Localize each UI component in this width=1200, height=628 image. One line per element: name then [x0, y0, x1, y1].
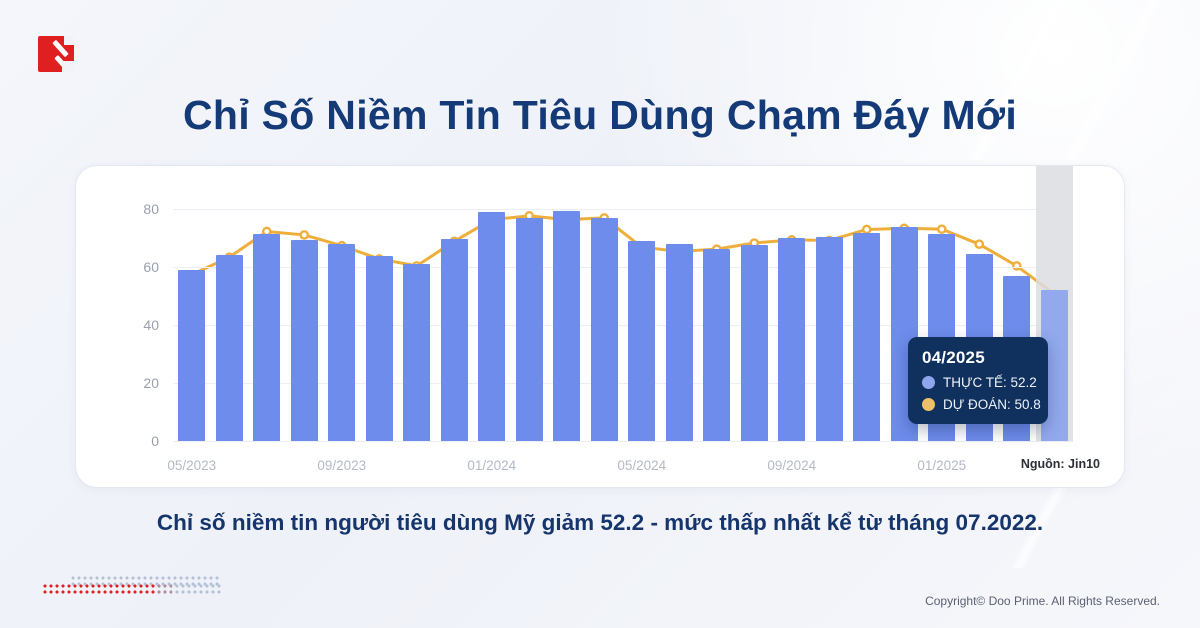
gridline — [173, 441, 1073, 442]
chart-card: 02040608005/202309/202301/202405/202409/… — [75, 165, 1125, 488]
bar[interactable] — [403, 264, 430, 441]
bar[interactable] — [441, 239, 468, 441]
chart-tooltip: 04/2025 THỰC TẾ: 52.2 DỰ ĐOÁN: 50.8 — [908, 337, 1048, 424]
copyright-text: Copyright© Doo Prime. All Rights Reserve… — [925, 594, 1160, 608]
y-axis-tick-label: 60 — [143, 259, 159, 275]
forecast-point-marker[interactable] — [938, 226, 945, 233]
bar[interactable] — [516, 218, 543, 441]
bar[interactable] — [741, 245, 768, 442]
caption-text: Chỉ số niềm tin người tiêu dùng Mỹ giảm … — [0, 510, 1200, 536]
bar[interactable] — [216, 255, 243, 441]
bar[interactable] — [591, 218, 618, 441]
forecast-point-marker[interactable] — [863, 226, 870, 233]
forecast-point-marker[interactable] — [1013, 262, 1020, 269]
y-axis-tick-label: 0 — [151, 433, 159, 449]
bar[interactable] — [853, 233, 880, 441]
tooltip-forecast-row: DỰ ĐOÁN: 50.8 — [922, 397, 1034, 412]
x-axis-tick-label: 09/2023 — [317, 458, 366, 473]
bar[interactable] — [553, 211, 580, 441]
tooltip-actual-dot-icon — [922, 376, 935, 389]
bar[interactable] — [178, 270, 205, 441]
bar[interactable] — [478, 212, 505, 441]
bar[interactable] — [366, 256, 393, 441]
gridline — [173, 209, 1073, 210]
poster-canvas: Chỉ Số Niềm Tin Tiêu Dùng Chạm Đáy Mới 0… — [0, 0, 1200, 628]
logo-notch-top — [64, 36, 74, 45]
y-axis-tick-label: 20 — [143, 375, 159, 391]
bar[interactable] — [666, 244, 693, 441]
y-axis-tick-label: 80 — [143, 201, 159, 217]
forecast-line-path — [192, 216, 1055, 294]
bar[interactable] — [778, 238, 805, 441]
tooltip-period: 04/2025 — [922, 348, 1034, 368]
dot-pattern-grey-lower — [156, 583, 222, 595]
bar[interactable] — [628, 241, 655, 441]
tooltip-actual-label: THỰC TẾ: 52.2 — [943, 375, 1037, 390]
bar[interactable] — [328, 244, 355, 441]
x-axis-tick-label: 01/2024 — [467, 458, 516, 473]
page-title: Chỉ Số Niềm Tin Tiêu Dùng Chạm Đáy Mới — [0, 92, 1200, 139]
bar[interactable] — [253, 234, 280, 441]
forecast-point-marker[interactable] — [976, 241, 983, 248]
chart-source-label: Nguồn: Jin10 — [1021, 457, 1100, 471]
tooltip-forecast-label: DỰ ĐOÁN: 50.8 — [943, 397, 1041, 412]
x-axis-tick-label: 09/2024 — [767, 458, 816, 473]
dot-pattern-red — [42, 583, 172, 595]
x-axis-tick-label: 05/2023 — [167, 458, 216, 473]
forecast-point-marker[interactable] — [301, 231, 308, 238]
x-axis-tick-label: 01/2025 — [917, 458, 966, 473]
bar[interactable] — [703, 249, 730, 441]
dot-pattern-decoration — [26, 574, 226, 600]
bar[interactable] — [816, 237, 843, 441]
bar[interactable] — [291, 240, 318, 441]
x-axis-tick-label: 05/2024 — [617, 458, 666, 473]
logo-notch-bottom — [62, 61, 74, 72]
tooltip-actual-row: THỰC TẾ: 52.2 — [922, 375, 1034, 390]
y-axis-tick-label: 40 — [143, 317, 159, 333]
doo-prime-logo — [38, 36, 74, 72]
tooltip-forecast-dot-icon — [922, 398, 935, 411]
